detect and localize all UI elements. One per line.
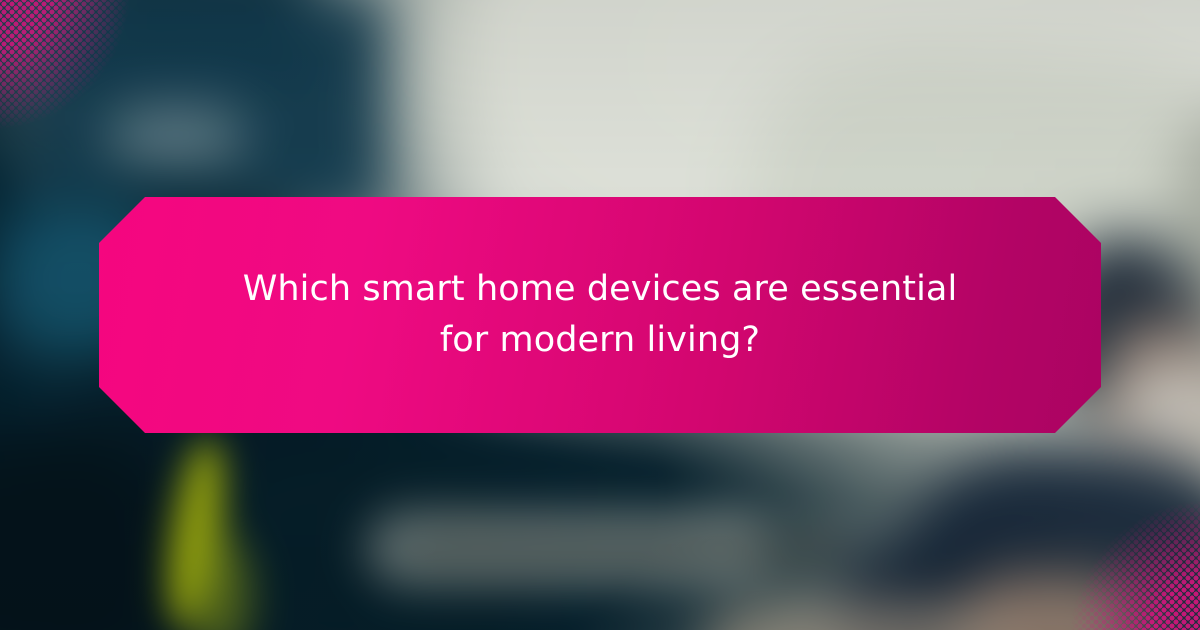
- screenshot-canvas: Which smart home devices are essential f…: [0, 0, 1200, 630]
- page-title: Which smart home devices are essential f…: [220, 264, 980, 366]
- headline-banner: Which smart home devices are essential f…: [99, 197, 1101, 433]
